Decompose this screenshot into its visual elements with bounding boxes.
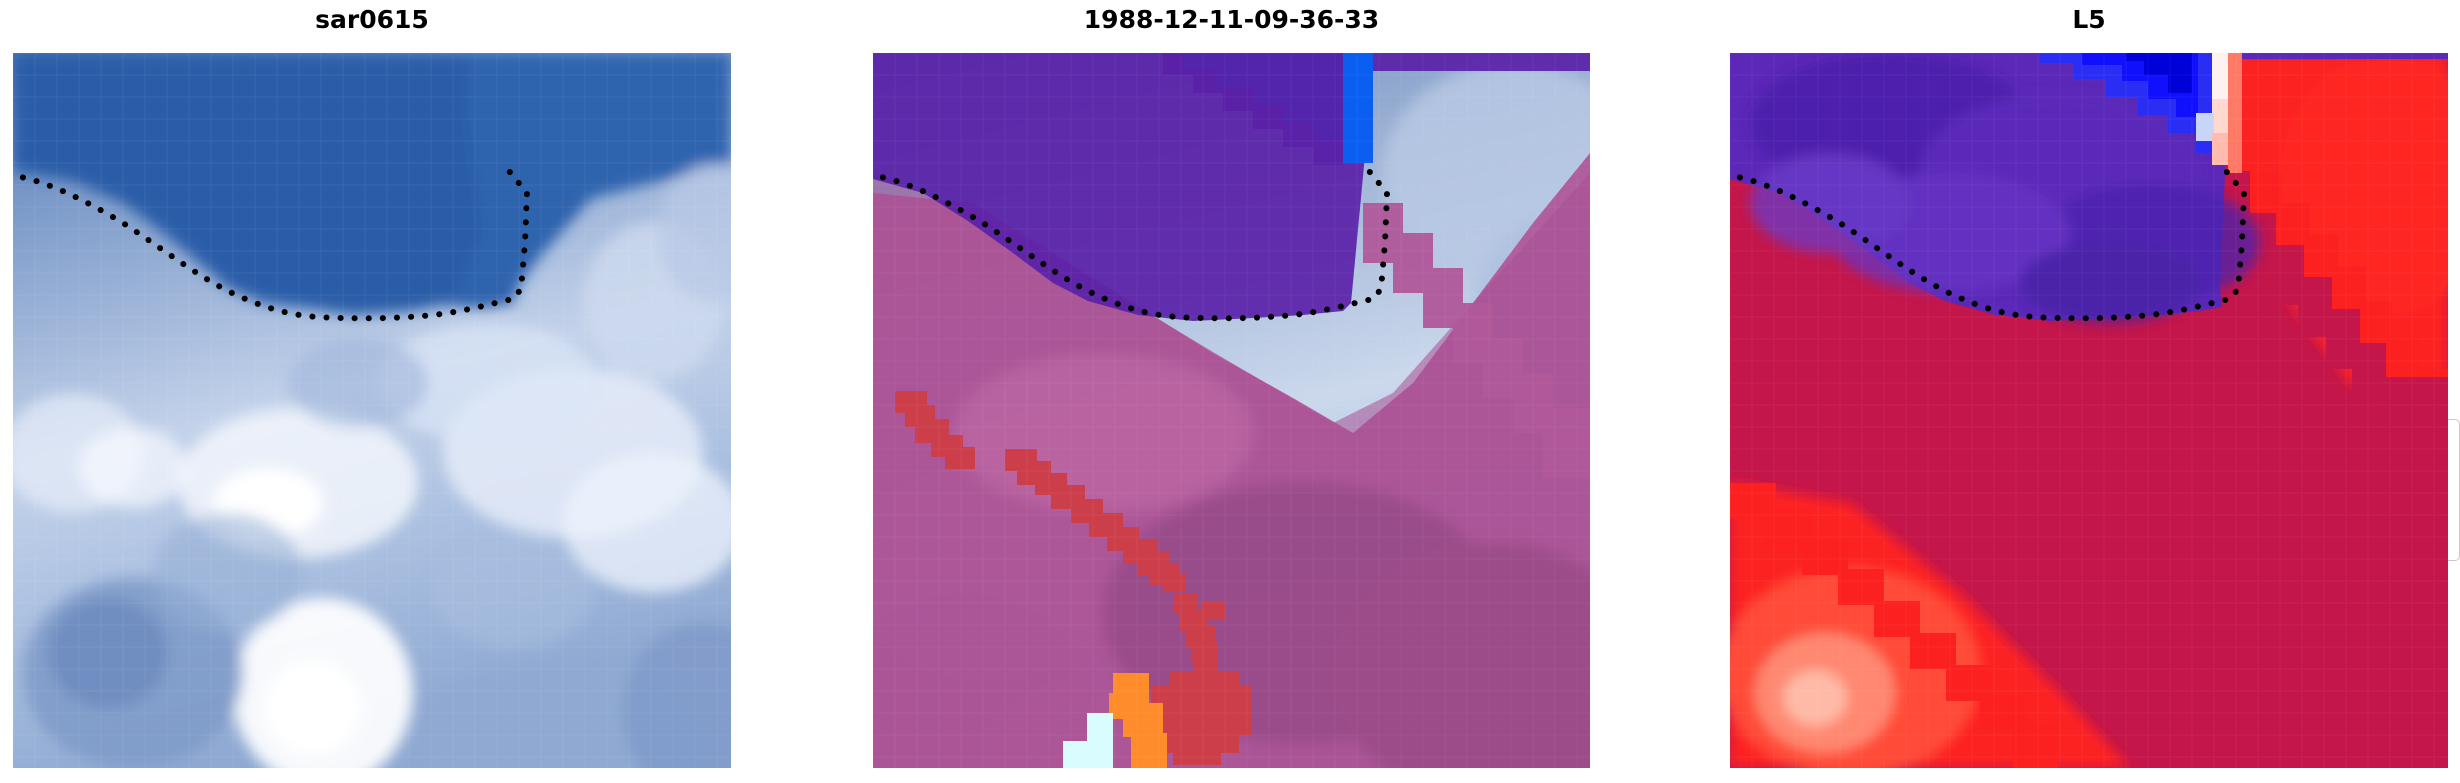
- panel-sar: sar0615: [13, 0, 731, 783]
- panel-l5: L5: [1730, 0, 2448, 783]
- panel-title-classified: 1988-12-11-09-36-33: [873, 6, 1590, 34]
- panel-classified: 1988-12-11-09-36-33: [873, 0, 1590, 783]
- axes-l5: [1730, 53, 2448, 768]
- sar-image: [13, 53, 731, 768]
- classified-image: [873, 53, 1590, 768]
- axes-classified: [873, 53, 1590, 768]
- l5-image: [1730, 53, 2448, 768]
- figure-root: sar0615: [0, 0, 2460, 783]
- axes-sar: [13, 53, 731, 768]
- panel-title-l5: L5: [1730, 6, 2448, 34]
- panel-title-sar: sar0615: [13, 6, 731, 34]
